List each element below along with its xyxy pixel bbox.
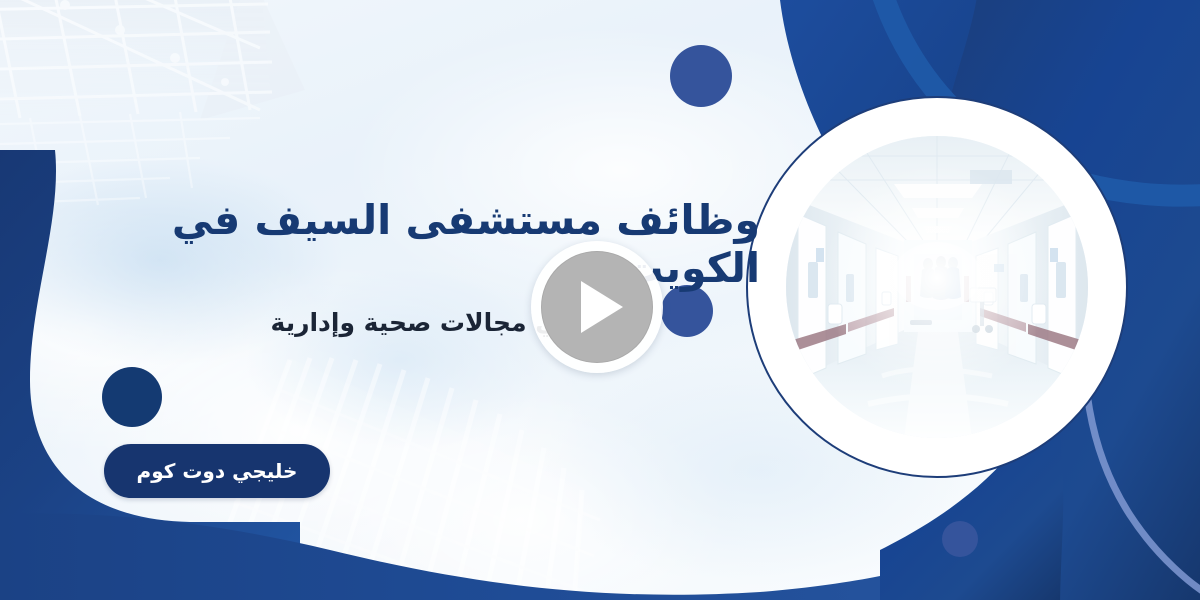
- hospital-corridor-photo: [786, 136, 1088, 438]
- page-subtitle: لدي مجالات صحية وإدارية: [0, 308, 582, 338]
- promo-banner: وظائف مستشفى السيف في الكويت لدي مجالات …: [0, 0, 1200, 600]
- play-icon: [581, 281, 623, 333]
- brand-badge[interactable]: خليجي دوت كوم: [104, 444, 330, 498]
- play-circle[interactable]: [541, 251, 653, 363]
- play-video-button[interactable]: [531, 241, 663, 373]
- brand-badge-label: خليجي دوت كوم: [137, 459, 298, 483]
